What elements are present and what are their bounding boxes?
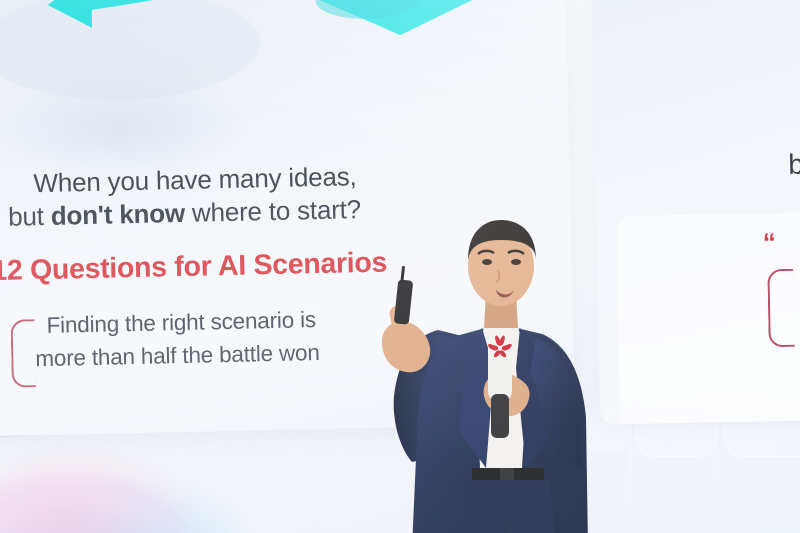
slide-subcaption-group: Finding the right scenario is more than …: [10, 305, 412, 394]
stage-photo: W but do “: [0, 0, 800, 533]
bracket-icon: [10, 319, 35, 388]
slide-question-line-1: When you have many ideas,: [33, 161, 357, 199]
slide-headline: 12 Questions for AI Scenarios: [0, 247, 387, 289]
speaker-figure: [360, 218, 660, 533]
quote-mark-icon: “: [762, 227, 777, 258]
slide-subcaption-line-1: Finding the right scenario is: [46, 307, 316, 339]
secondary-slide-partial-line: but do: [788, 147, 800, 181]
question-bold: don't know: [50, 198, 185, 231]
slide-subcaption-line-2: more than half the battle won: [35, 340, 320, 372]
slide-question-line-2: but don't know where to start?: [8, 194, 361, 233]
question-plain-before: but: [8, 201, 51, 232]
secondary-partial-plain: but: [788, 148, 800, 180]
question-plain-after: where to start?: [185, 194, 362, 228]
secondary-bracket-icon: [767, 269, 794, 347]
